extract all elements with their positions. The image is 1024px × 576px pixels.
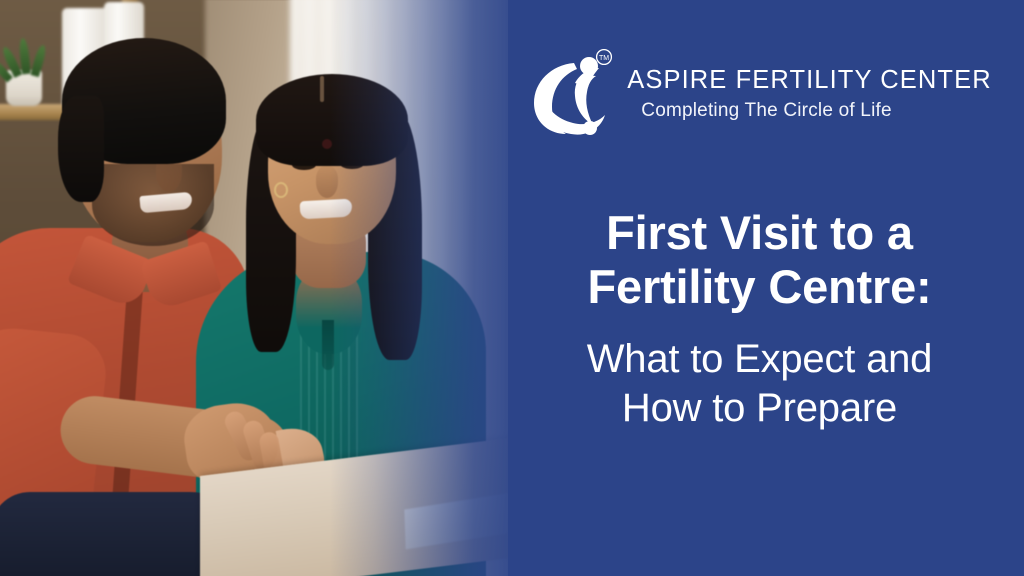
woman-hair-part (320, 76, 324, 102)
page-subtitle: What to Expect and How to Prepare (587, 335, 932, 433)
woman-smile (300, 199, 353, 220)
clinic-logo: TM ASPIRE FERTILITY CENTER Completing Th… (527, 46, 991, 144)
woman-nose (316, 166, 338, 198)
brand-name: ASPIRE FERTILITY CENTER (627, 67, 991, 94)
banner-content: TM ASPIRE FERTILITY CENTER Completing Th… (495, 0, 1024, 576)
woman-hair-top (256, 74, 408, 166)
logo-wordmark: ASPIRE FERTILITY CENTER Completing The C… (627, 67, 991, 123)
kurta-neck-slit (322, 320, 334, 370)
page-title: First Visit to a Fertility Centre: (588, 206, 932, 313)
man-hair-side (58, 96, 104, 202)
brand-tagline: Completing The Circle of Life (641, 99, 891, 124)
couple-photo (0, 0, 520, 576)
fertility-clinic-promo-banner: TM ASPIRE FERTILITY CENTER Completing Th… (0, 0, 1024, 576)
aspire-fertility-figures-logo-icon: TM (527, 49, 613, 141)
woman-bindi (322, 139, 332, 149)
svg-text:TM: TM (599, 55, 609, 62)
woman-earring (274, 182, 288, 198)
